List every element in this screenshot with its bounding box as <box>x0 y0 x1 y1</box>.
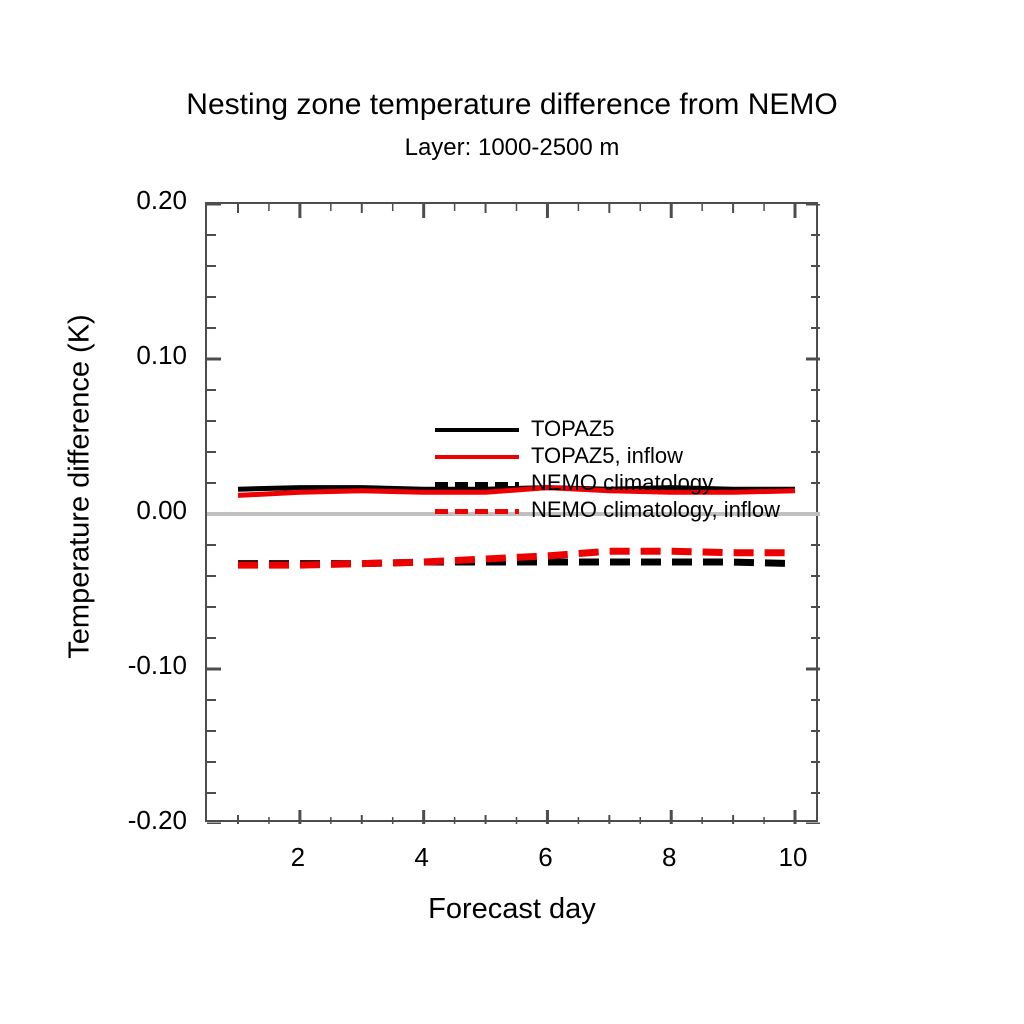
legend-label: TOPAZ5 <box>531 416 615 442</box>
legend-line-sample-dashed-black <box>435 482 519 487</box>
y-tick-label: -0.10 <box>87 650 187 681</box>
x-tick-label: 2 <box>268 842 328 873</box>
legend-label: NEMO climatology <box>531 470 713 496</box>
x-tick-label: 4 <box>392 842 452 873</box>
legend-line-sample-dashed-red <box>435 509 519 514</box>
x-axis-title: Forecast day <box>0 893 1024 926</box>
legend-label: TOPAZ5, inflow <box>531 443 683 469</box>
legend-line-sample-solid-red <box>435 455 519 459</box>
legend-line-sample-solid-black <box>435 428 519 432</box>
x-tick-label: 8 <box>639 842 699 873</box>
series-line-2 <box>238 562 795 564</box>
plot-area: TOPAZ5 TOPAZ5, inflow NEMO climatology N… <box>205 202 818 822</box>
x-tick-label: 6 <box>515 842 575 873</box>
y-tick-label: -0.20 <box>87 805 187 836</box>
y-tick-label: 0.20 <box>87 185 187 216</box>
legend-label: NEMO climatology, inflow <box>531 497 780 523</box>
chart-title: Nesting zone temperature difference from… <box>0 88 1024 122</box>
chart-subtitle: Layer: 1000-2500 m <box>0 134 1024 162</box>
y-tick-label: 0.10 <box>87 340 187 371</box>
chart-figure: Nesting zone temperature difference from… <box>0 0 1024 1024</box>
x-tick-label: 10 <box>763 842 823 873</box>
y-tick-label: 0.00 <box>87 495 187 526</box>
